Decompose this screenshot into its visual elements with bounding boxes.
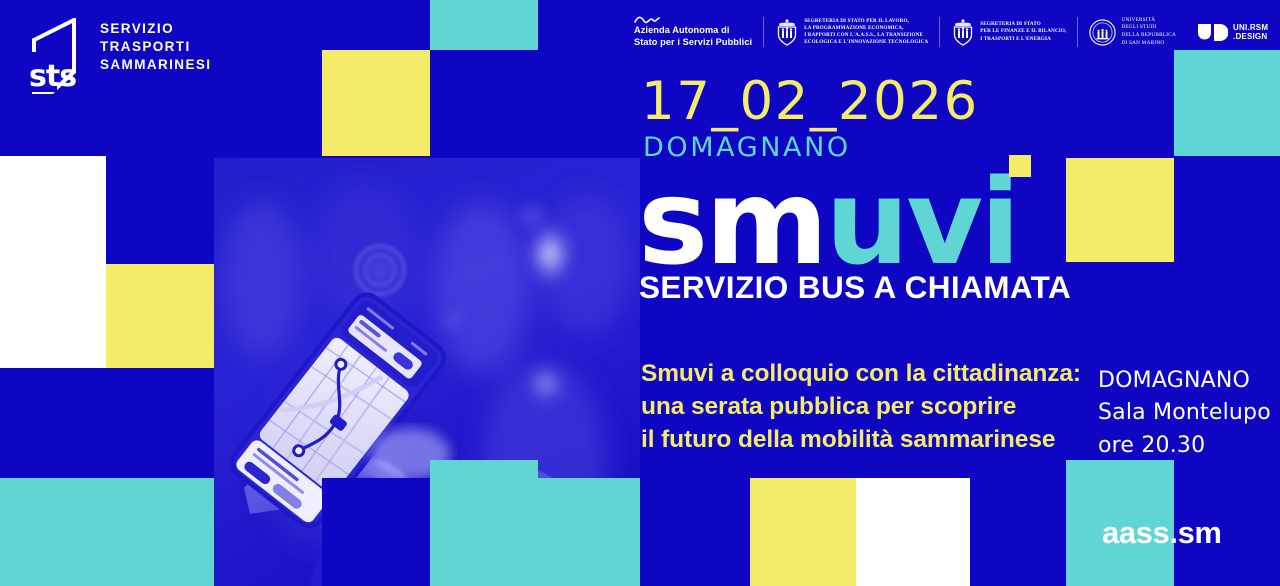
sts-line-3: SAMMARINESI	[100, 56, 211, 74]
deco-block-white-left	[0, 156, 106, 368]
aass-line-1: Azienda Autonoma di	[634, 25, 752, 37]
unirsm-line-2: .DESIGN	[1233, 32, 1268, 41]
segreteria-lavoro-line-1: SEGRETERIA DI STATO PER IL LAVORO,	[804, 18, 928, 25]
sts-logo[interactable]: sts SERVIZIO TRASPORTI SAMMARINESI	[24, 12, 214, 96]
sts-line-2: TRASPORTI	[100, 38, 211, 56]
unirsm-line-1: UNI.RSM	[1233, 23, 1268, 32]
segreteria-lavoro-line-2: LA PROGRAMMAZIONE ECONOMICA,	[804, 25, 928, 32]
ud-monogram-icon	[1198, 24, 1228, 41]
event-blurb: Smuvi a colloquio con la cittadinanza: u…	[641, 358, 1081, 456]
event-venue: DOMAGNANO Sala Montelupo ore 20.30	[1098, 365, 1271, 462]
segreteria-lavoro-line-4: ECOLOGICA E L'INNOVAZIONE TECNOLOGICA	[804, 39, 928, 46]
aass-line-2: Stato per i Servizi Pubblici	[634, 37, 752, 49]
event-blurb-line-2: una serata pubblica per scoprire	[641, 391, 1081, 424]
event-blurb-line-1: Smuvi a colloquio con la cittadinanza:	[641, 358, 1081, 391]
venue-city: DOMAGNANO	[1098, 365, 1271, 397]
deco-block-yellow-left	[106, 264, 214, 368]
universita-line-3: DELLA REPUBBLICA	[1121, 32, 1176, 40]
website-url[interactable]: aass.sm	[1102, 517, 1222, 548]
universita-line-1: UNIVERSITÀ	[1121, 17, 1176, 25]
deco-block-teal-bottomleft	[0, 478, 214, 586]
deco-block-yellow-bottom	[750, 478, 856, 586]
venue-hall: Sala Montelupo	[1098, 397, 1271, 429]
venue-time: ore 20.30	[1098, 430, 1271, 462]
event-date: 17_02_2026	[641, 75, 979, 128]
event-blurb-line-3: il futuro della mobilità sammarinese	[641, 424, 1081, 457]
smuvi-tagline: SERVIZIO BUS A CHIAMATA	[639, 272, 1071, 304]
deco-block-teal-bottom-right	[538, 478, 640, 586]
segreteria-lavoro-line-3: I RAPPORTI CON L'A.A.S.S., LA TRANSIZION…	[804, 32, 928, 39]
deco-block-teal-bottom-mid	[430, 460, 538, 586]
smuvi-wordmark: smuvi	[638, 163, 1018, 281]
deco-block-white-bottom	[856, 478, 970, 586]
institutional-logo-bar: Azienda Autonoma di Stato per i Servizi …	[634, 12, 1279, 52]
squiggle-icon	[634, 16, 660, 24]
san-marino-crest-icon	[775, 18, 799, 46]
partner-segreteria-finanze[interactable]: SEGRETERIA DI STATO PER LE FINANZE E IL …	[940, 12, 1077, 52]
universita-line-2: DEGLI STUDI	[1121, 24, 1176, 32]
university-seal-icon	[1089, 19, 1116, 46]
segreteria-finanze-line-3: I TRASPORTI E L'ENERGIA	[980, 36, 1066, 43]
svg-text:sts: sts	[29, 59, 76, 94]
deco-block-blue-bottom-mid	[322, 478, 430, 586]
partner-aass[interactable]: Azienda Autonoma di Stato per i Servizi …	[634, 12, 763, 52]
partner-unirsm-design[interactable]: UNI.RSM .DESIGN	[1187, 12, 1279, 52]
segreteria-finanze-line-1: SEGRETERIA DI STATO	[980, 21, 1066, 28]
partner-universita[interactable]: UNIVERSITÀ DEGLI STUDI DELLA REPUBBLICA …	[1078, 12, 1187, 52]
deco-block-teal-topright	[1174, 50, 1280, 156]
smuvi-i-dot	[1009, 155, 1031, 177]
sts-line-1: SERVIZIO	[100, 20, 211, 38]
sts-monogram-icon: sts	[24, 18, 90, 94]
segreteria-finanze-line-2: PER LE FINANZE E IL BILANCIO,	[980, 28, 1066, 35]
deco-block-yellow-upper	[1066, 158, 1174, 262]
partner-segreteria-lavoro[interactable]: SEGRETERIA DI STATO PER IL LAVORO, LA PR…	[764, 12, 939, 52]
deco-block-yellow-top-mid	[322, 50, 430, 156]
san-marino-crest-icon	[951, 18, 975, 46]
deco-block-teal-top-mid	[430, 0, 538, 50]
poster-canvas: sts SERVIZIO TRASPORTI SAMMARINESI Azien…	[0, 0, 1280, 586]
sts-wordmark: SERVIZIO TRASPORTI SAMMARINESI	[100, 20, 211, 73]
universita-line-4: DI SAN MARINO	[1121, 40, 1176, 48]
